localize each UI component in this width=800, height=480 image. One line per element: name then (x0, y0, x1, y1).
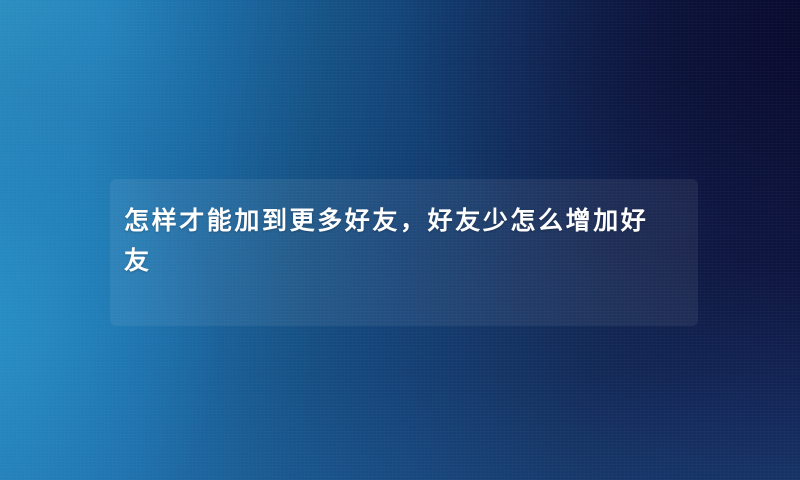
headline-text: 怎样才能加到更多好友，好友少怎么增加好友 (124, 201, 672, 281)
headline-panel: 怎样才能加到更多好友，好友少怎么增加好友 (110, 179, 698, 326)
text-card-image: 怎样才能加到更多好友，好友少怎么增加好友 (0, 0, 800, 480)
